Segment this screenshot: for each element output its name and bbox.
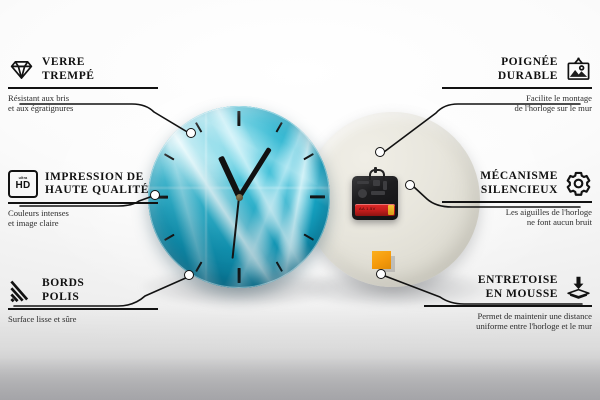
callout-verre-trempe: VERRE TREMPÉ Résistant aux bris et aux é… — [8, 56, 158, 114]
callout-subtitle: Surface lisse et sûre — [8, 314, 158, 325]
diamond-icon — [8, 56, 35, 83]
callout-mecanisme-silencieux: MÉCANISME SILENCIEUX Les aiguilles de l'… — [442, 170, 592, 228]
clock-bevel-rim — [148, 106, 330, 288]
movement-detail — [358, 189, 367, 198]
callout-rule — [424, 305, 592, 307]
callout-title: VERRE TREMPÉ — [42, 56, 95, 83]
callout-title: BORDS POLIS — [42, 277, 84, 304]
background-floor-lower — [0, 358, 600, 400]
battery-label: AA 1.5V — [359, 206, 376, 211]
movement-detail — [371, 191, 385, 195]
callout-title: ENTRETOISE EN MOUSSE — [478, 274, 558, 301]
callout-impression-haute-qualite: ultra HD IMPRESSION DE HAUTE QUALITÉ Cou… — [8, 170, 158, 229]
foam-spacer — [372, 251, 391, 269]
callout-header: MÉCANISME SILENCIEUX — [442, 170, 592, 197]
callout-subtitle: Permet de maintenir une distance uniform… — [424, 311, 592, 332]
badge-large-label: HD — [15, 181, 30, 191]
arrow-onto-layers-icon — [565, 274, 592, 301]
callout-rule — [8, 202, 158, 204]
callout-header: ENTRETOISE EN MOUSSE — [424, 274, 592, 301]
callout-entretoise-en-mousse: ENTRETOISE EN MOUSSE Permet de maintenir… — [424, 274, 592, 332]
callout-title: IMPRESSION DE HAUTE QUALITÉ — [45, 171, 149, 198]
infographic-stage: AA 1.5V — [0, 0, 600, 400]
movement-detail — [383, 181, 387, 190]
callout-subtitle: Facilite le montage de l'horloge sur le … — [442, 93, 592, 114]
gear-icon — [565, 170, 592, 197]
ultra-hd-badge-icon: ultra HD — [8, 170, 38, 198]
callout-rule — [442, 201, 592, 203]
callout-header: BORDS POLIS — [8, 277, 158, 304]
callout-title: POIGNÉE DURABLE — [498, 56, 558, 83]
battery-positive-tip — [388, 205, 394, 215]
movement-detail — [373, 180, 380, 186]
callout-subtitle: Les aiguilles de l'horloge ne font aucun… — [442, 207, 592, 228]
hanging-picture-frame-icon — [565, 56, 592, 83]
callout-rule — [8, 87, 158, 89]
callout-header: ultra HD IMPRESSION DE HAUTE QUALITÉ — [8, 170, 158, 198]
diagonal-lines-icon — [8, 277, 35, 304]
movement-detail — [357, 181, 369, 184]
callout-rule — [442, 87, 592, 89]
clock-front-face — [148, 106, 330, 288]
callout-poignee-durable: POIGNÉE DURABLE Facilite le montage de l… — [442, 56, 592, 114]
movement-hanger-icon — [369, 169, 385, 180]
callout-header: VERRE TREMPÉ — [8, 56, 158, 83]
callout-bords-polis: BORDS POLIS Surface lisse et sûre — [8, 277, 158, 324]
clock-movement: AA 1.5V — [352, 176, 398, 220]
callout-rule — [8, 308, 158, 310]
callout-subtitle: Couleurs intenses et image claire — [8, 208, 158, 229]
movement-battery: AA 1.5V — [355, 204, 395, 216]
callout-subtitle: Résistant aux bris et aux égratignures — [8, 93, 158, 114]
callout-title: MÉCANISME SILENCIEUX — [480, 170, 558, 197]
callout-header: POIGNÉE DURABLE — [442, 56, 592, 83]
